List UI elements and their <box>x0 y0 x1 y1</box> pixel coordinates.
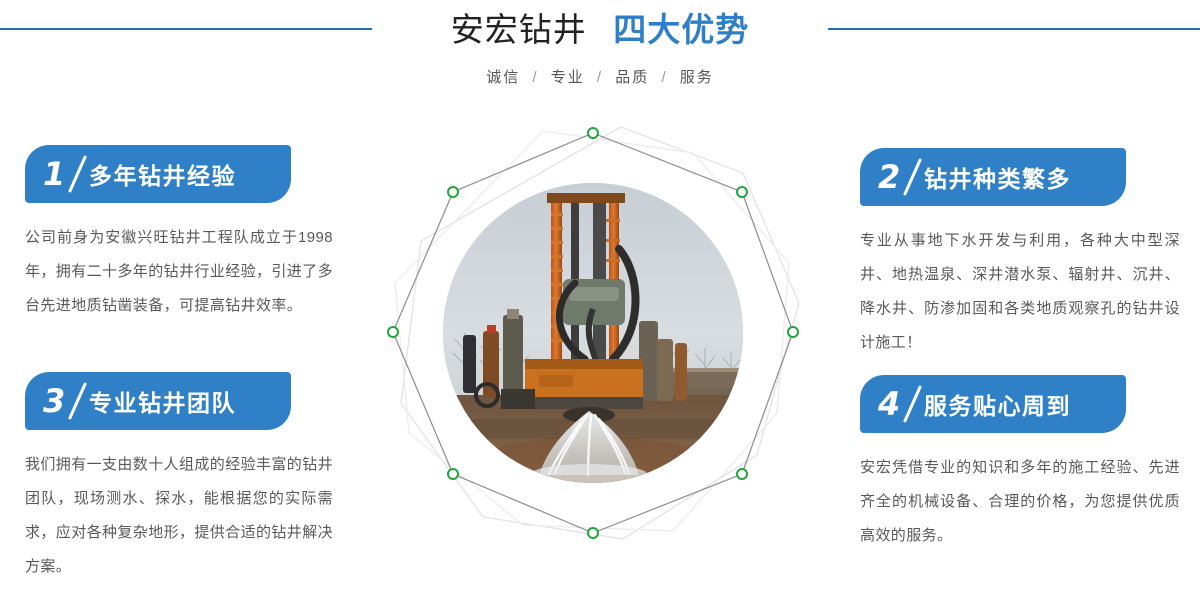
number-slash-icon <box>903 385 922 423</box>
subtitle-separator-1: / <box>532 69 538 86</box>
page-subtitle: 诚信 / 专业 / 品质 / 服务 <box>0 66 1200 87</box>
number-slash-icon <box>68 382 87 420</box>
page-title-accent: 四大优势 <box>613 11 749 48</box>
feature-card-4[interactable]: 4 服务贴心周到 安宏凭借专业的知识和多年的施工经验、先进齐全的机械设备、合理的… <box>860 375 1200 553</box>
feature-number-2-value: 2 <box>878 158 900 196</box>
subtitle-item-3: 品质 <box>615 69 649 86</box>
vertex-marker-right <box>788 327 798 337</box>
page-title-main: 安宏钻井 <box>451 11 587 48</box>
number-slash-icon <box>68 155 87 193</box>
number-slash-icon <box>903 158 922 196</box>
feature-card-4-header: 4 服务贴心周到 <box>860 375 1126 433</box>
center-graphic <box>373 113 813 553</box>
feature-card-1-header: 1 多年钻井经验 <box>25 145 291 203</box>
feature-card-3-title: 专业钻井团队 <box>89 384 236 418</box>
subtitle-item-2: 专业 <box>551 69 585 86</box>
feature-card-4-body: 安宏凭借专业的知识和多年的施工经验、先进齐全的机械设备、合理的价格，为您提供优质… <box>860 451 1180 553</box>
feature-card-2[interactable]: 2 钻井种类繁多 专业从事地下水开发与利用，各种大中型深井、地热温泉、深井潜水泵… <box>860 148 1200 360</box>
feature-number-4-value: 4 <box>878 385 900 423</box>
feature-number-3: 3 <box>39 379 85 423</box>
subtitle-separator-3: / <box>661 69 667 86</box>
drilling-rig-photo <box>443 183 743 483</box>
feature-card-3-body: 我们拥有一支由数十人组成的经验丰富的钻井团队，现场测水、探水，能根据您的实际需求… <box>25 448 333 584</box>
feature-number-4: 4 <box>874 382 920 426</box>
page-root: 安宏钻井 四大优势 诚信 / 专业 / 品质 / 服务 1 多年钻井经验 公司前… <box>0 0 1200 600</box>
vertex-marker-left <box>388 327 398 337</box>
feature-number-3-value: 3 <box>43 382 65 420</box>
subtitle-item-4: 服务 <box>680 69 714 86</box>
feature-number-2: 2 <box>874 155 920 199</box>
feature-card-1[interactable]: 1 多年钻井经验 公司前身为安徽兴旺钻井工程队成立于1998年，拥有二十多年的钻… <box>0 145 340 323</box>
page-title: 安宏钻井 四大优势 <box>0 8 1200 52</box>
feature-number-1: 1 <box>39 152 85 196</box>
vertex-marker-bottom <box>588 528 598 538</box>
page-header: 安宏钻井 四大优势 诚信 / 专业 / 品质 / 服务 <box>0 0 1200 110</box>
feature-card-2-title: 钻井种类繁多 <box>924 160 1071 194</box>
feature-card-4-title: 服务贴心周到 <box>924 387 1071 421</box>
feature-card-1-body: 公司前身为安徽兴旺钻井工程队成立于1998年，拥有二十多年的钻井行业经验，引进了… <box>25 221 333 323</box>
feature-card-3[interactable]: 3 专业钻井团队 我们拥有一支由数十人组成的经验丰富的钻井团队，现场测水、探水，… <box>0 372 340 584</box>
feature-number-1-value: 1 <box>43 155 65 193</box>
feature-card-1-title: 多年钻井经验 <box>89 157 236 191</box>
feature-card-2-header: 2 钻井种类繁多 <box>860 148 1126 206</box>
drilling-rig-illustration <box>443 183 743 483</box>
subtitle-item-1: 诚信 <box>486 69 520 86</box>
feature-card-3-header: 3 专业钻井团队 <box>25 372 291 430</box>
feature-card-2-body: 专业从事地下水开发与利用，各种大中型深井、地热温泉、深井潜水泵、辐射井、沉井、降… <box>860 224 1180 360</box>
subtitle-separator-2: / <box>597 69 603 86</box>
vertex-marker-top <box>588 128 598 138</box>
